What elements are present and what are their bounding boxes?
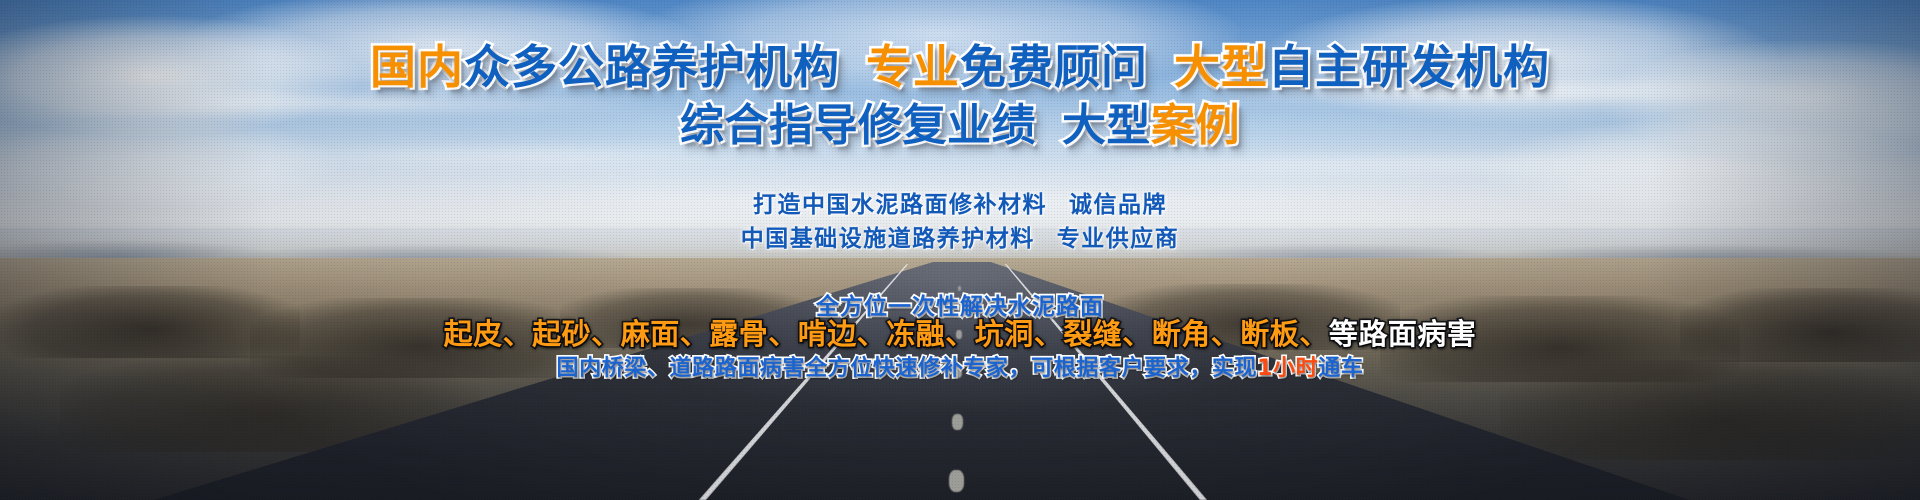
- subtitle-1-part-2: 诚信品牌: [1069, 192, 1167, 218]
- disease-suffix: 等路面病害: [1329, 320, 1477, 349]
- headline-seg-zizhuyanfa: 自主研发机构: [1268, 44, 1550, 90]
- disease-term: 啃边、: [798, 320, 887, 349]
- headline-seg-mianfei: 免费顾问: [960, 44, 1148, 90]
- promo-banner: 国内众多公路养护机构专业免费顾问大型自主研发机构 综合指导修复业绩大型案例 打造…: [0, 0, 1920, 500]
- headline-seg-zhongduo: 众多公路养护机构: [464, 44, 840, 90]
- subtitle-2-part-2: 专业供应商: [1057, 226, 1180, 252]
- road-closing-line: 国内桥梁、道路路面病害全方位快速修补专家，可根据客户要求，实现1小时通车: [0, 358, 1920, 380]
- closing-highlight: 1小时: [1257, 358, 1318, 380]
- headline-line-1: 国内众多公路养护机构专业免费顾问大型自主研发机构: [0, 44, 1920, 90]
- subtitle-1-part-1: 打造中国水泥路面修补材料: [753, 192, 1047, 218]
- disease-term: 裂缝、: [1063, 320, 1152, 349]
- subtitle-line-1: 打造中国水泥路面修补材料诚信品牌: [0, 194, 1920, 217]
- disease-term: 起砂、: [532, 320, 621, 349]
- disease-term: 断板、: [1240, 320, 1329, 349]
- banner-content: 国内众多公路养护机构专业免费顾问大型自主研发机构 综合指导修复业绩大型案例 打造…: [0, 0, 1920, 500]
- disease-term: 露骨、: [709, 320, 798, 349]
- disease-term: 麻面、: [621, 320, 710, 349]
- disease-term: 断角、: [1152, 320, 1241, 349]
- closing-text-part-1: 国内桥梁、道路路面病害全方位快速修补专家，可根据客户要求，实现: [557, 358, 1258, 380]
- road-line-1-text: 全方位一次性解决水泥路面: [816, 296, 1104, 319]
- headline-seg-anli: 案例: [1151, 104, 1240, 148]
- headline-seg-daxing-2: 大型: [1062, 104, 1151, 148]
- headline-seg-guonei: 国内: [370, 44, 464, 90]
- closing-text-part-2: 通车: [1318, 358, 1363, 380]
- road-headline-line: 全方位一次性解决水泥路面: [0, 296, 1920, 319]
- headline-seg-zonghezhidao: 综合指导修复业绩: [680, 104, 1036, 148]
- disease-term: 坑洞、: [975, 320, 1064, 349]
- disease-term: 起皮、: [444, 320, 533, 349]
- disease-list-line: 起皮、起砂、麻面、露骨、啃边、冻融、坑洞、裂缝、断角、断板、等路面病害: [0, 320, 1920, 349]
- headline-seg-daxing: 大型: [1174, 44, 1268, 90]
- headline-seg-zhuanye: 专业: [866, 44, 960, 90]
- subtitle-2-part-1: 中国基础设施道路养护材料: [741, 226, 1035, 252]
- disease-term: 冻融、: [886, 320, 975, 349]
- headline-line-2: 综合指导修复业绩大型案例: [0, 104, 1920, 148]
- subtitle-line-2: 中国基础设施道路养护材料专业供应商: [0, 228, 1920, 251]
